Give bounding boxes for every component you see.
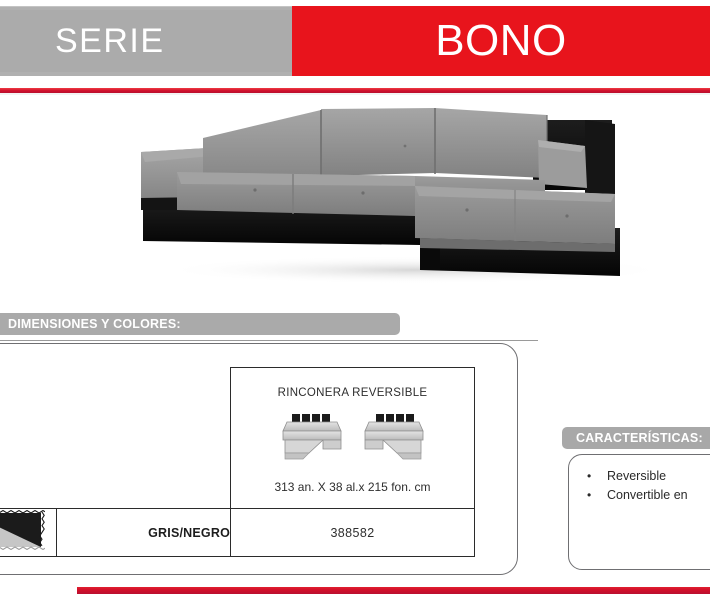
characteristics-section-title: CARACTERÍSTICAS:: [576, 431, 703, 445]
product-code-cell: 388582: [231, 509, 475, 557]
characteristics-section-header: CARACTERÍSTICAS:: [562, 427, 710, 449]
characteristics-list: Reversible Convertible en: [579, 467, 710, 505]
dimensions-table: RINCONERA REVERSIBLE: [0, 367, 475, 557]
table-header-row: RINCONERA REVERSIBLE: [0, 368, 475, 509]
sofa-icon-left: [283, 414, 341, 459]
fabric-swatch-grey-black-icon: [0, 510, 45, 550]
catalog-page: SERIE BONO: [0, 0, 710, 605]
serie-block: SERIE: [0, 6, 292, 76]
dimensions-section-title: DIMENSIONES Y COLORES:: [8, 317, 181, 331]
product-photo: [115, 98, 695, 298]
model-type-label: RINCONERA REVERSIBLE: [231, 387, 474, 399]
list-item: Convertible en: [579, 486, 710, 505]
color-name-cell: GRIS/NEGRO: [57, 509, 231, 557]
sofa-illustration: [115, 98, 695, 298]
header-band: SERIE BONO: [0, 6, 710, 76]
model-dimensions-label: 313 an. X 38 al.x 215 fon. cm: [231, 480, 474, 494]
table-row: GRIS/NEGRO 388582: [0, 509, 475, 557]
table-empty-cell-swatch: [0, 368, 57, 509]
characteristics-card: Reversible Convertible en: [568, 454, 710, 570]
model-name-block: BONO: [292, 6, 710, 76]
reversible-corner-sofa-diagram: [231, 409, 474, 468]
dimensions-section-header: DIMENSIONES Y COLORES:: [0, 313, 400, 335]
model-name-label: BONO: [292, 19, 710, 63]
list-item: Reversible: [579, 467, 710, 486]
sofa-icon-right: [365, 414, 423, 459]
sofa-top-view-icons: [279, 409, 427, 463]
dimensions-header-underline: [0, 340, 538, 341]
serie-label: SERIE: [55, 24, 165, 58]
fabric-swatch-cell: [0, 509, 57, 557]
footer-accent-bar: [77, 587, 710, 594]
table-model-header-cell: RINCONERA REVERSIBLE: [231, 368, 475, 509]
header-divider-shadow: [0, 93, 710, 95]
table-empty-cell-name: [57, 368, 231, 509]
